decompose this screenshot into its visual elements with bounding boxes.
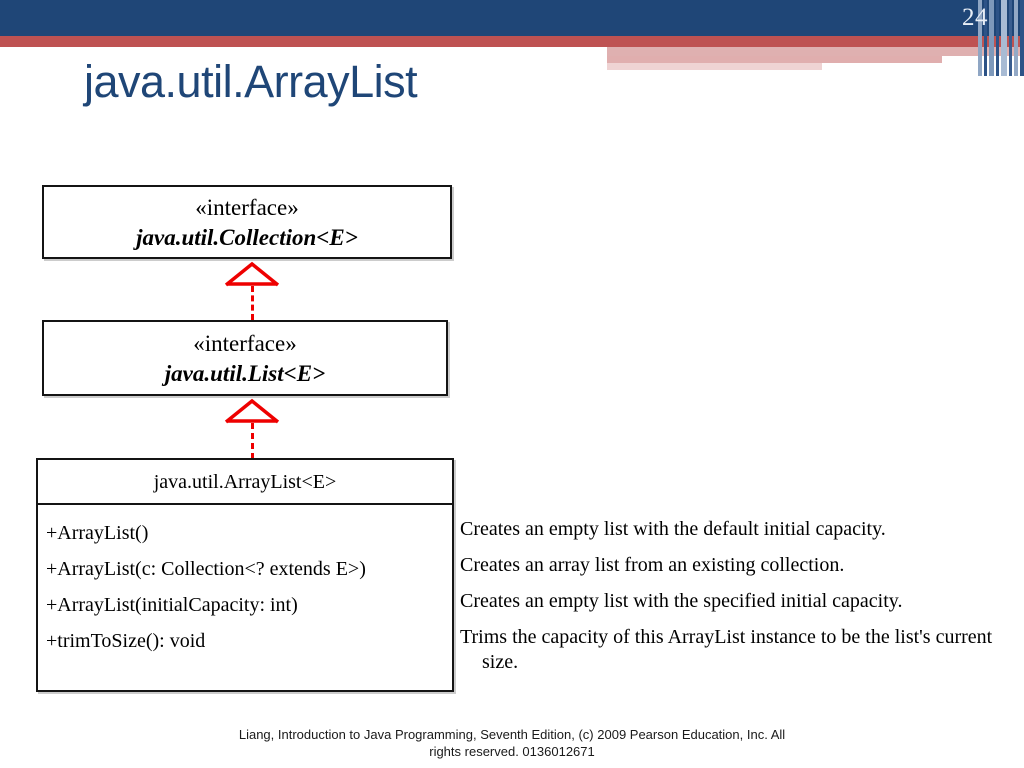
hollow-triangle-icon [222, 261, 282, 287]
list-qualified-name: java.util.List<E> [44, 359, 446, 389]
arraylist-member: +ArrayList() [46, 515, 452, 551]
uml-box-arraylist: java.util.ArrayList<E> +ArrayList() +Arr… [36, 458, 454, 692]
hollow-triangle-icon [222, 398, 282, 424]
uml-box-list: «interface» java.util.List<E> [42, 320, 448, 396]
uml-box-collection-name: «interface» java.util.Collection<E> [44, 187, 450, 253]
description-item: Creates an empty list with the specified… [460, 589, 1005, 614]
dashed-realization-line [251, 423, 254, 459]
description-item: Creates an array list from an existing c… [460, 553, 1005, 578]
dashed-realization-line [251, 286, 254, 320]
collection-stereotype: «interface» [44, 193, 450, 223]
footer-credit-line-2: rights reserved. 0136012671 [0, 743, 1024, 760]
arraylist-member: +ArrayList(initialCapacity: int) [46, 587, 452, 623]
member-descriptions: Creates an empty list with the default i… [460, 517, 1005, 686]
description-item: Creates an empty list with the default i… [460, 517, 1005, 542]
arraylist-class-name: java.util.ArrayList<E> [38, 460, 452, 505]
arraylist-member: +trimToSize(): void [46, 623, 452, 659]
description-item: Trims the capacity of this ArrayList ins… [460, 625, 1005, 675]
list-stereotype: «interface» [44, 329, 446, 359]
footer-credit: Liang, Introduction to Java Programming,… [0, 726, 1024, 760]
arraylist-member: +ArrayList(c: Collection<? extends E>) [46, 551, 452, 587]
collection-qualified-name: java.util.Collection<E> [44, 223, 450, 253]
uml-box-collection: «interface» java.util.Collection<E> [42, 185, 452, 259]
generalization-arrow-list-to-collection [222, 261, 282, 319]
uml-box-list-name: «interface» java.util.List<E> [44, 322, 446, 389]
arraylist-member-list: +ArrayList() +ArrayList(c: Collection<? … [38, 505, 452, 659]
generalization-arrow-arraylist-to-list [222, 398, 282, 458]
footer-credit-line-1: Liang, Introduction to Java Programming,… [0, 726, 1024, 743]
